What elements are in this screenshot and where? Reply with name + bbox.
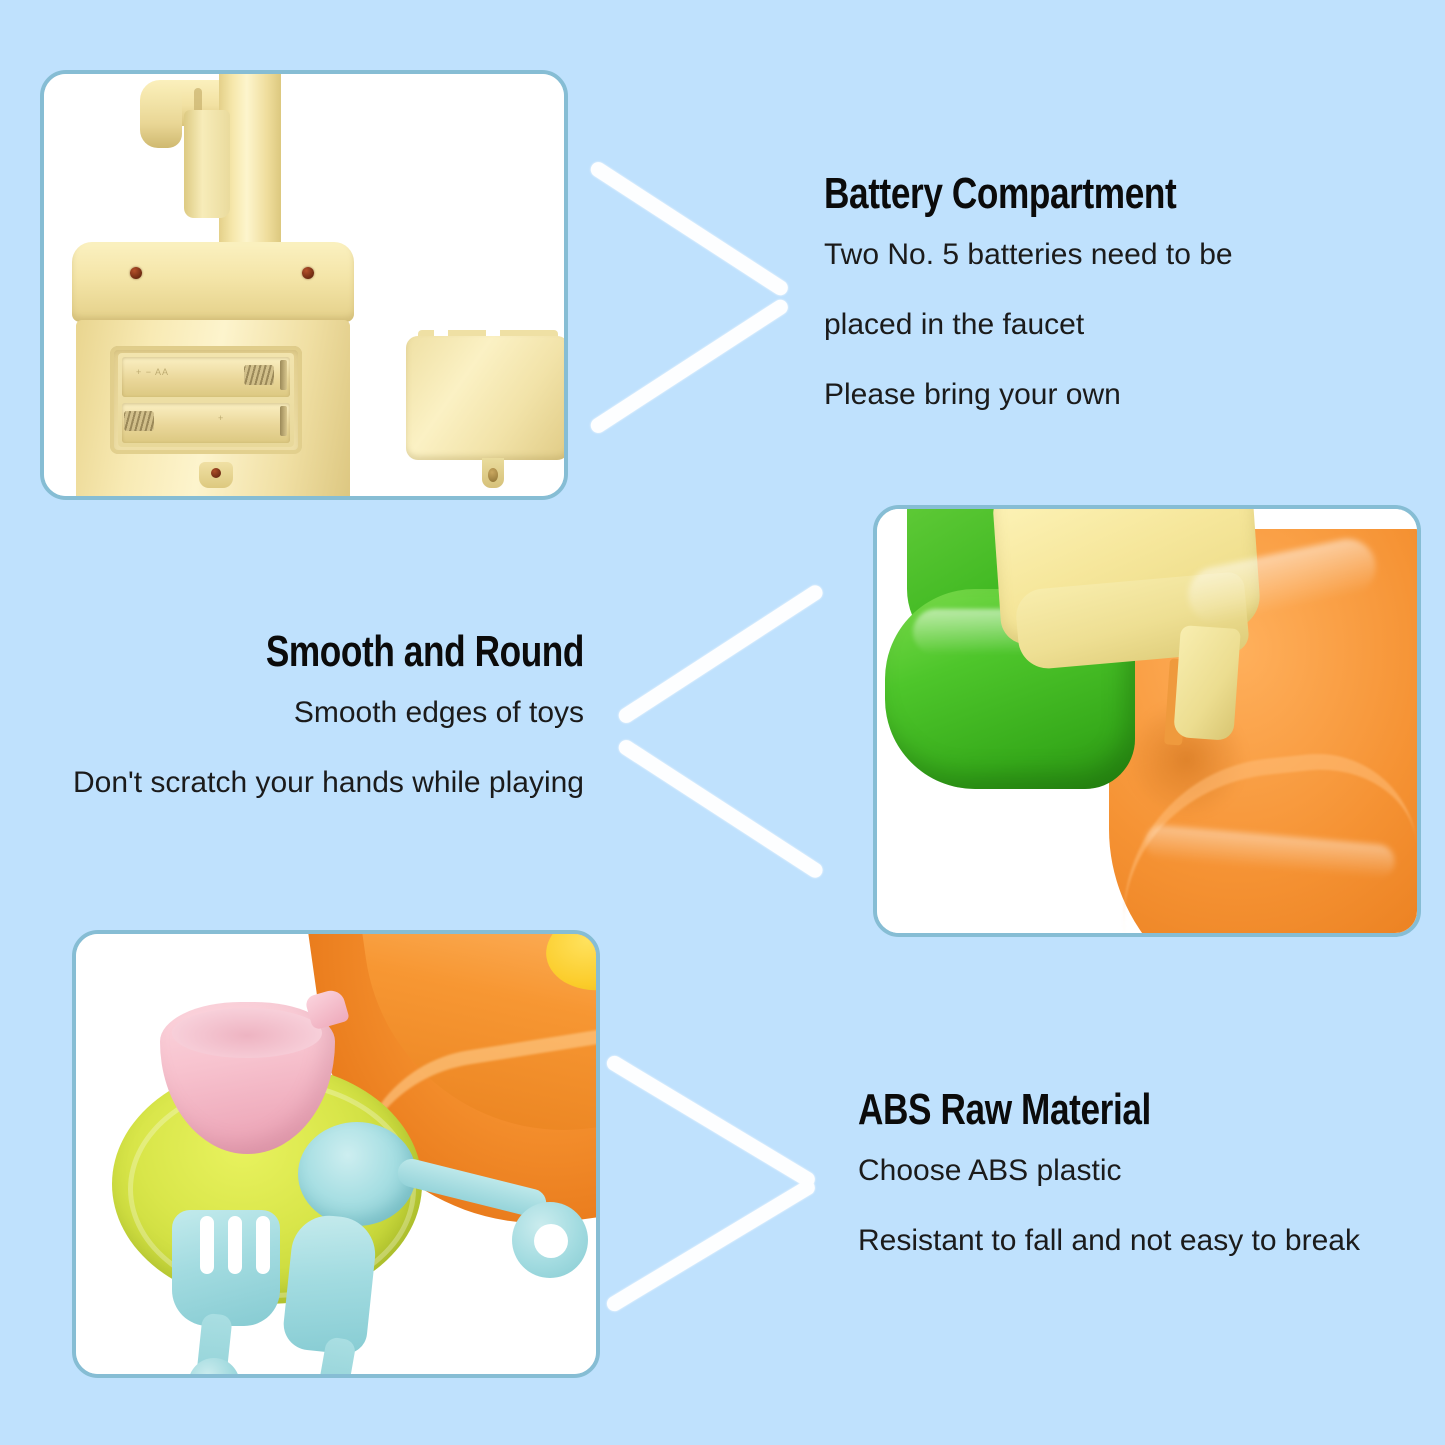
feature-line: placed in the faucet <box>824 310 1264 340</box>
screw-hole-shape <box>130 267 142 279</box>
battery-bay-shape: + − AA + <box>118 353 294 447</box>
feature-text-smooth: Smooth and Round Smooth edges of toys Do… <box>73 630 584 798</box>
mint-fork-tine-gap <box>256 1216 270 1274</box>
chevron-bar-upper <box>588 159 791 298</box>
chevron-bar-lower <box>588 297 791 436</box>
mint-spoon-hole-shape <box>534 1224 568 1258</box>
feature-line: Don't scratch your hands while playing <box>73 768 584 798</box>
faucet-spout-tip-shape <box>140 88 182 148</box>
mint-fork-knob-shape <box>188 1358 240 1374</box>
feature-title-abs: ABS Raw Material <box>858 1088 1260 1132</box>
battery-cover-shape <box>406 336 564 460</box>
feature-text-battery: Battery Compartment Two No. 5 batteries … <box>824 172 1264 410</box>
battery-photo-content: + − AA + <box>44 74 564 496</box>
chevron-bar-lower <box>616 737 825 880</box>
feature-line: Resistant to fall and not easy to break <box>858 1226 1360 1256</box>
abs-material-photo <box>72 930 600 1378</box>
chevron-bar-lower <box>604 1177 817 1313</box>
smooth-photo-content <box>877 509 1417 933</box>
battery-compartment-photo: + − AA + <box>40 70 568 500</box>
battery-spring-shape <box>244 365 274 385</box>
screw-hole-shape <box>302 267 314 279</box>
pink-cup-interior-shape <box>172 1008 322 1058</box>
feature-line: Choose ABS plastic <box>858 1156 1360 1186</box>
abs-photo-content <box>76 934 596 1374</box>
chevron-bar-upper <box>616 582 825 725</box>
battery-terminal-shape <box>280 406 287 436</box>
chevron-bar-upper <box>604 1053 817 1189</box>
battery-spring-shape <box>124 411 154 431</box>
battery-polarity-marking: + − AA <box>136 367 169 377</box>
infographic-canvas: + − AA + Battery Compartment Two No. 5 b… <box>0 0 1445 1445</box>
feature-line: Smooth edges of toys <box>73 698 584 728</box>
feature-line: Two No. 5 batteries need to be <box>824 240 1264 270</box>
feature-line: Please bring your own <box>824 380 1264 410</box>
feature-title-smooth: Smooth and Round <box>175 630 584 674</box>
mint-fork-tine-gap <box>228 1216 242 1274</box>
battery-cover-latch-shape <box>199 462 233 488</box>
battery-terminal-shape <box>280 360 287 390</box>
smooth-edges-photo <box>873 505 1421 937</box>
mint-fork-tine-gap <box>200 1216 214 1274</box>
mint-spatula-head-shape <box>281 1212 379 1356</box>
feature-title-battery: Battery Compartment <box>824 172 1176 216</box>
yellow-clip-tab-shape <box>1173 625 1241 741</box>
faucet-neck-shape <box>184 110 230 218</box>
battery-polarity-marking: + <box>218 413 224 423</box>
battery-housing-cap-shape <box>72 242 354 322</box>
feature-text-abs: ABS Raw Material Choose ABS plastic Resi… <box>858 1088 1360 1256</box>
battery-cover-tongue-shape <box>482 458 504 488</box>
